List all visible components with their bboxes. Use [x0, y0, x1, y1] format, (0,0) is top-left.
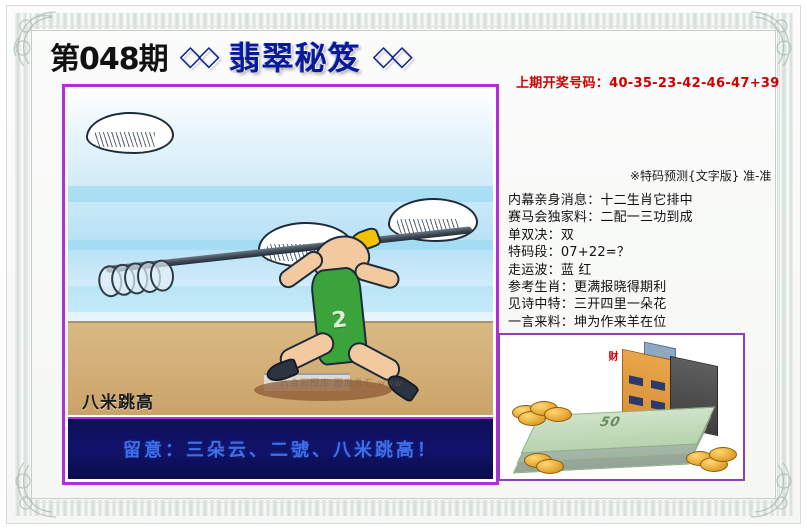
prediction-label: 单双决： [508, 228, 561, 243]
prediction-value: 蓝 红 [561, 263, 592, 278]
prediction-row: 一言来料：坤为作来羊在位 [508, 314, 798, 331]
illustration-canvas: 2 六合彩图库 图库总汇 www 八米跳高 留意：三朵云、二號、八米跳高！ [68, 90, 493, 479]
illustration-caption: 八米跳高 [82, 388, 154, 413]
athlete-figure: 2 [268, 230, 418, 430]
prediction-value: 三开四里一朵花 [574, 297, 666, 312]
cloud-icon [86, 112, 174, 154]
prediction-value: 二配一三功到成 [600, 210, 692, 225]
prediction-label: 参考生肖： [508, 280, 574, 295]
prediction-value: 十二生肖它排中 [600, 193, 692, 208]
prediction-label: 内幕亲身消息： [508, 193, 600, 208]
prediction-value: 坤为作来羊在位 [574, 315, 666, 330]
page-root: 第048期 ◇◇ 翡翠秘笈 ◇◇ [0, 0, 807, 529]
gold-coin-icon [709, 447, 737, 462]
issue-number: 第048期 [50, 34, 168, 78]
gold-coin-icon [544, 407, 572, 422]
prediction-row: 参考生肖：更满报晓得期利 [508, 279, 798, 296]
prediction-label: 一言来料： [508, 315, 574, 330]
prediction-list: 内幕亲身消息：十二生肖它排中 赛马会独家料：二配一三功到成 单双决：双 特码段：… [508, 192, 798, 331]
illustration-panel: 2 六合彩图库 图库总汇 www 八米跳高 留意：三朵云、二號、八米跳高！ [62, 84, 499, 485]
prediction-row: 单双决：双 [508, 227, 798, 244]
prediction-label: 见诗中特： [508, 297, 574, 312]
building-window [629, 395, 643, 406]
diamond-deco-left-icon: ◇◇ [180, 42, 217, 70]
prediction-value: 07+22=？ [561, 245, 630, 260]
prediction-heading: ※特码预测{文字版} 准-准 [630, 167, 771, 184]
prediction-value: 双 [561, 228, 574, 243]
corner-flourish-icon [10, 461, 66, 521]
athlete-bib-number: 2 [315, 306, 363, 336]
prediction-row: 见诗中特：三开四里一朵花 [508, 296, 798, 313]
illustration-banner: 留意：三朵云、二號、八米跳高！ [68, 417, 493, 479]
prediction-label: 特码段： [508, 245, 561, 260]
illustration-watermark: 六合彩图库 图库总汇 www [280, 376, 470, 389]
prediction-row: 内幕亲身消息：十二生肖它排中 [508, 192, 798, 209]
prediction-row: 走运波：蓝 红 [508, 262, 798, 279]
prediction-label: 赛马会独家料： [508, 210, 600, 225]
gold-coin-icon [536, 459, 564, 474]
money-illustration-panel: 财 50 [498, 333, 745, 481]
prediction-value: 更满报晓得期利 [574, 280, 666, 295]
prediction-label: 走运波： [508, 263, 561, 278]
prediction-row: 赛马会独家料：二配一三功到成 [508, 209, 798, 226]
corner-flourish-icon [741, 461, 797, 521]
money-illustration-canvas: 财 50 [504, 339, 739, 475]
building-window [629, 375, 643, 386]
money-red-mark: 财 [604, 351, 619, 360]
page-header: 第048期 ◇◇ 翡翠秘笈 ◇◇ [50, 32, 520, 80]
illustration-banner-text: 留意：三朵云、二號、八米跳高！ [123, 436, 438, 462]
last-draw-numbers: 上期开奖号码：40-35-23-42-46-47+39 [516, 72, 780, 91]
corner-flourish-icon [741, 8, 797, 68]
prediction-row: 特码段：07+22=？ [508, 244, 798, 261]
building-window [651, 380, 665, 391]
diamond-deco-right-icon: ◇◇ [373, 42, 410, 70]
page-title: 翡翠秘笈 [229, 33, 361, 79]
